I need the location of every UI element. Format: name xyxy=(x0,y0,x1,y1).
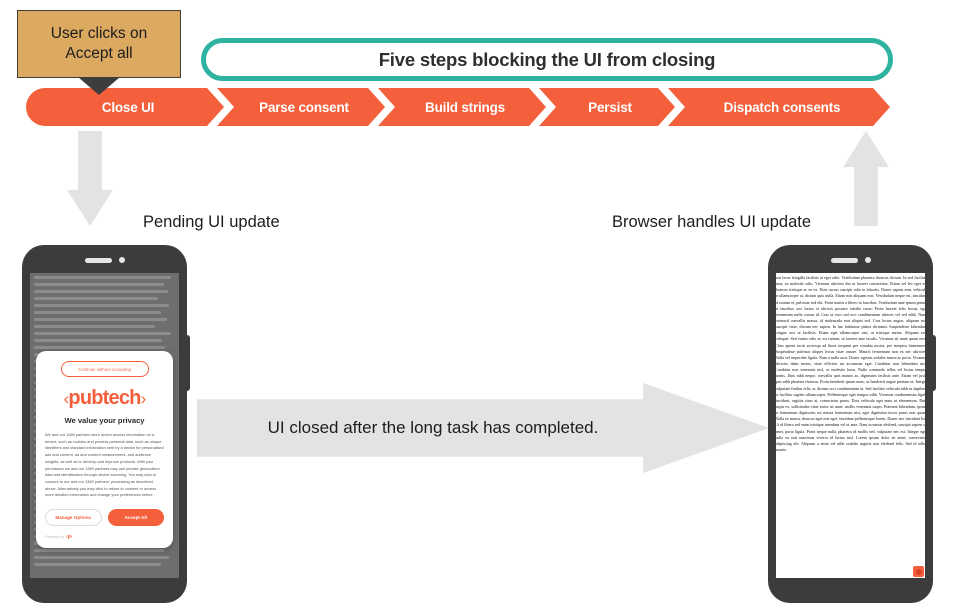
step-chevron-strip: Close UI Parse consent Build strings Per… xyxy=(26,88,890,126)
diagram-canvas: User clicks on Accept all Five steps blo… xyxy=(0,0,970,608)
step-chevron-persist[interactable]: Persist xyxy=(539,88,675,126)
caption-pending-ui-update: Pending UI update xyxy=(143,213,280,232)
banner-five-steps: Five steps blocking the UI from closing xyxy=(201,38,893,81)
step-chevron-close-ui[interactable]: Close UI xyxy=(26,88,224,126)
step-chevron-dispatch-consents[interactable]: Dispatch consents xyxy=(668,88,890,126)
phone-screen-right: non lacus fringilla facilisis at eget od… xyxy=(776,273,925,578)
accept-all-label: Accept All xyxy=(125,515,147,520)
step-label: Close UI xyxy=(26,100,224,115)
powered-by-mark-icon: ‹p› xyxy=(66,534,72,540)
modal-body-paragraph: We and our 1389 partners store and/or ac… xyxy=(45,432,164,498)
step-label: Parse consent xyxy=(217,100,385,115)
continue-without-accepting-label: Continue without accepting xyxy=(78,367,131,372)
callout-line-2: Accept all xyxy=(65,45,132,62)
article-body-text: non lacus fringilla facilisis at eget od… xyxy=(776,275,925,453)
consent-modal: Continue without accepting ‹pubtech› We … xyxy=(36,351,173,548)
phone-screen-left: Continue without accepting ‹pubtech› We … xyxy=(30,273,179,578)
accept-all-button[interactable]: Accept All xyxy=(108,509,165,526)
callout-tail xyxy=(79,77,119,94)
continue-without-accepting-button[interactable]: Continue without accepting xyxy=(61,361,149,377)
modal-button-row: Manage Options Accept All xyxy=(45,509,164,526)
callout-user-clicks-accept-all: User clicks on Accept all xyxy=(17,10,181,78)
arrow-down-icon xyxy=(67,131,113,226)
phone-mockup-left: Continue without accepting ‹pubtech› We … xyxy=(22,245,187,603)
speaker-grill-icon xyxy=(831,258,858,263)
step-label: Dispatch consents xyxy=(668,100,890,115)
manage-options-label: Manage Options xyxy=(55,515,91,520)
callout-line-1: User clicks on xyxy=(51,25,147,42)
front-camera-icon xyxy=(119,257,125,263)
step-label: Persist xyxy=(539,100,675,115)
arrow-right-icon xyxy=(197,383,769,473)
manage-options-button[interactable]: Manage Options xyxy=(45,509,102,526)
modal-body-text: We and our 1389 partners store and/or ac… xyxy=(45,432,164,498)
front-camera-icon xyxy=(865,257,871,263)
pubtech-logo: ‹pubtech› xyxy=(45,388,164,408)
powered-by: Powered by ‹p› xyxy=(45,534,164,540)
badge-dot-icon xyxy=(916,569,922,575)
logo-chevron-right-icon: › xyxy=(141,389,146,408)
phone-notch-right xyxy=(831,257,871,263)
phone-notch-left xyxy=(85,257,125,263)
phone-mockup-right: non lacus fringilla facilisis at eget od… xyxy=(768,245,933,603)
logo-wordmark: pubtech xyxy=(68,387,140,409)
speaker-grill-icon xyxy=(85,258,112,263)
step-chevron-build-strings[interactable]: Build strings xyxy=(378,88,546,126)
floating-badge-icon[interactable] xyxy=(913,566,924,577)
powered-by-label: Powered by xyxy=(45,535,64,539)
banner-title: Five steps blocking the UI from closing xyxy=(379,49,716,71)
modal-title: We value your privacy xyxy=(45,416,164,425)
step-chevron-parse-consent[interactable]: Parse consent xyxy=(217,88,385,126)
caption-browser-handles-ui-update: Browser handles UI update xyxy=(612,213,811,232)
arrow-up-icon xyxy=(843,131,889,226)
step-label: Build strings xyxy=(378,100,546,115)
